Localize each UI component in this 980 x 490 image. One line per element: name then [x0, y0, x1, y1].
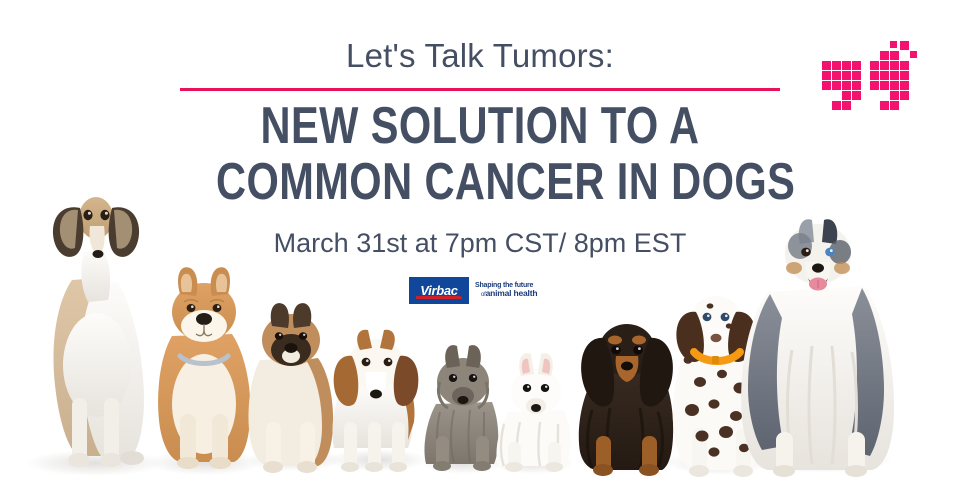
title-line-1: NEW SOLUTION TO A: [216, 98, 744, 154]
eyebrow-text: Let's Talk Tumors:: [180, 38, 780, 74]
virbac-tagline-animal-health: animal health: [486, 288, 538, 298]
pixel-quote-logo: [818, 36, 922, 116]
accent-divider: [180, 88, 780, 91]
webinar-banner: Let's Talk Tumors: NEW SOLUTION TO A COM…: [0, 0, 980, 490]
virbac-tagline: Shaping the future ofanimal health: [475, 282, 559, 298]
title-line-2: COMMON CANCER IN DOGS: [216, 154, 744, 210]
virbac-logo-box: Virbac: [409, 277, 469, 304]
dog-cavalier-king-charles-spaniel: [579, 324, 673, 476]
virbac-tagline-line-2: ofanimal health: [475, 289, 559, 298]
virbac-logo: Virbac Shaping the future ofanimal healt…: [409, 276, 559, 304]
pixelated-quotation-marks-icon: [818, 36, 922, 116]
event-datetime: March 31st at 7pm CST/ 8pm EST: [180, 228, 780, 259]
page-title: NEW SOLUTION TO A COMMON CANCER IN DOGS: [216, 98, 744, 210]
dog-saluki: [53, 197, 144, 467]
virbac-wordmark: Virbac: [420, 284, 457, 297]
